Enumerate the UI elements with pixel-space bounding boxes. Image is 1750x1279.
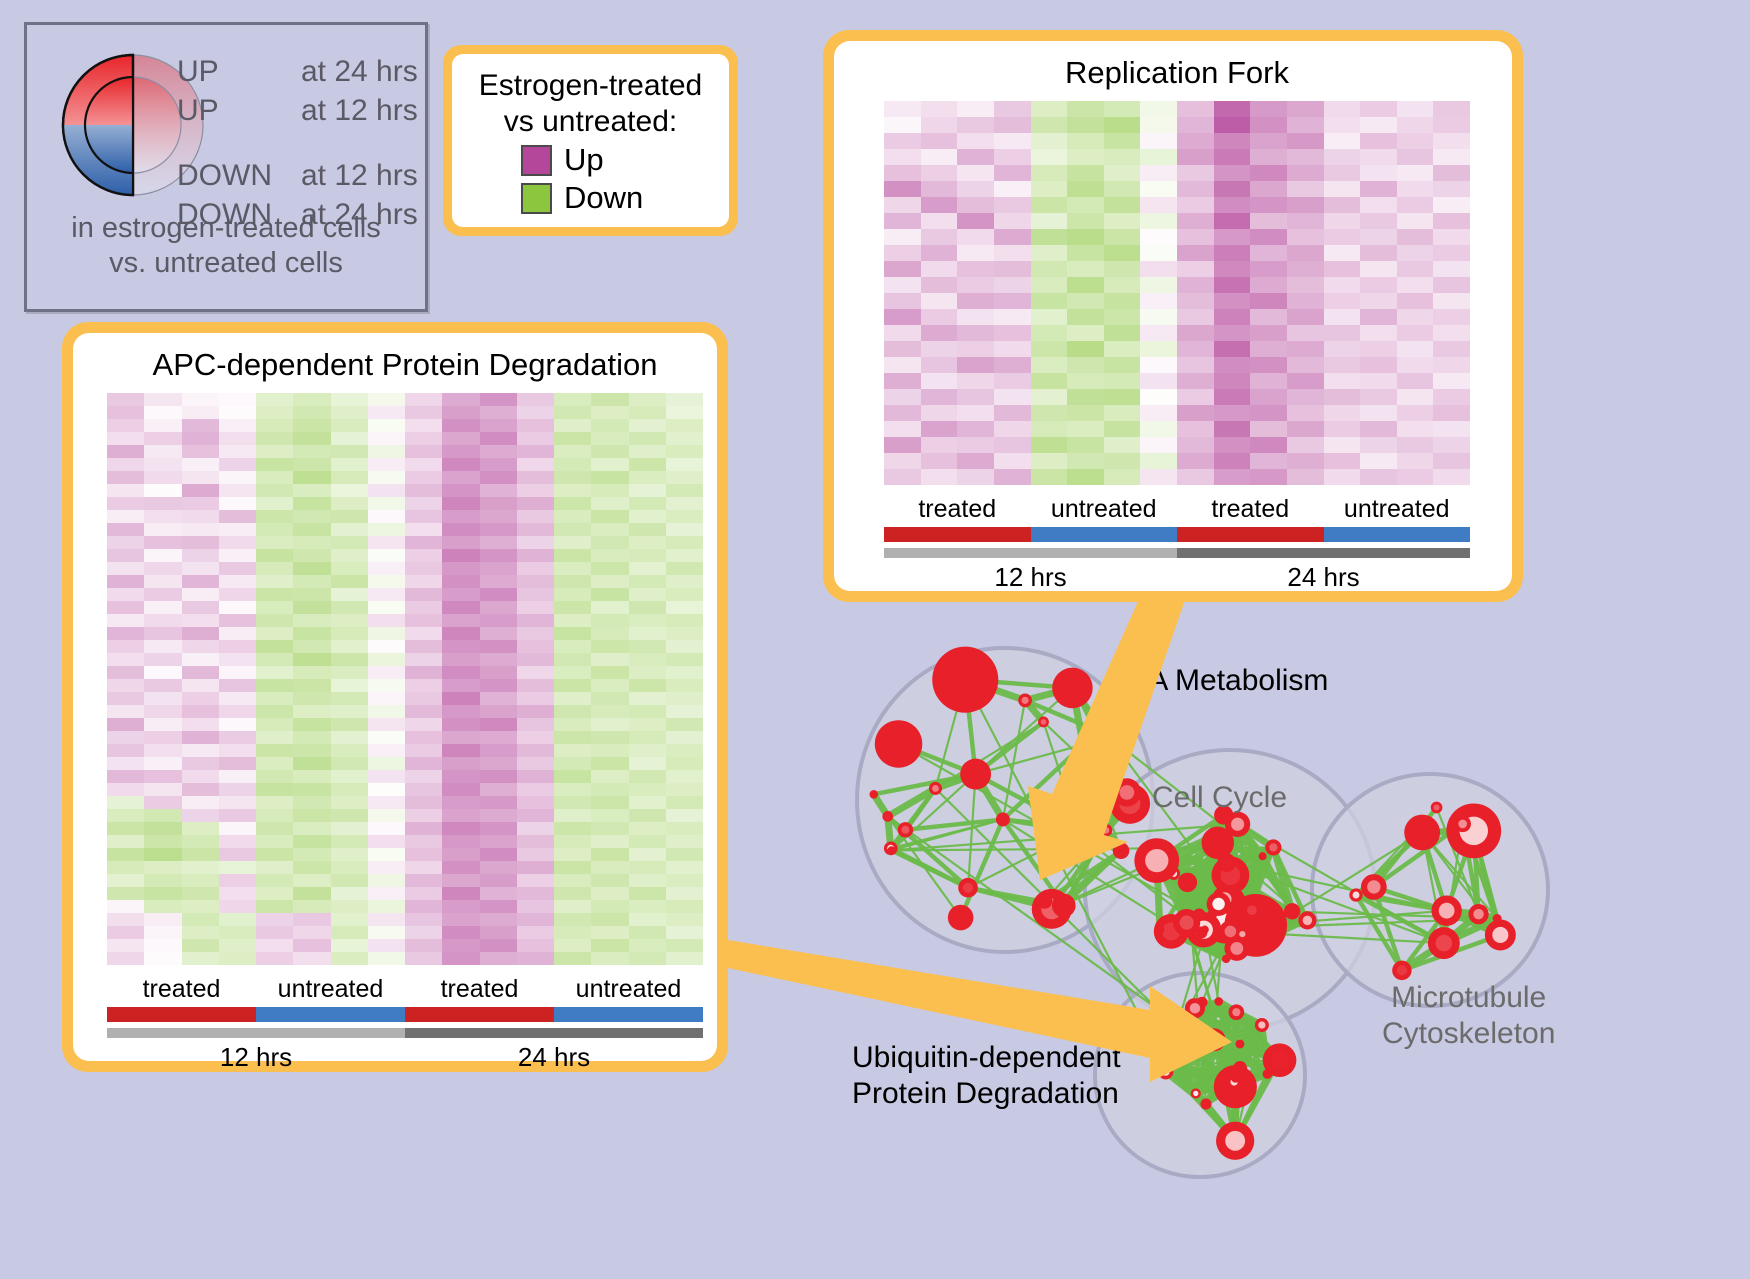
column-label: treated <box>107 975 256 1004</box>
heatmap-cell <box>1250 149 1287 165</box>
heatmap-cell <box>1287 357 1324 373</box>
heatmap-cell <box>994 197 1031 213</box>
heatmap-cell <box>591 796 628 809</box>
heatmap-cell <box>884 277 921 293</box>
network-node-core <box>1353 892 1360 899</box>
color-key-row: DOWN at 12 hrs <box>177 159 418 198</box>
heatmap-cell <box>666 731 703 744</box>
heatmap-cell <box>1140 133 1177 149</box>
heatmap-cell <box>1177 149 1214 165</box>
heatmap-cell <box>1067 405 1104 421</box>
heatmap-cell <box>480 640 517 653</box>
heatmap-cell <box>182 523 219 536</box>
heatmap-cell <box>405 809 442 822</box>
network-node-core <box>1102 731 1108 737</box>
network-node[interactable] <box>1178 873 1197 892</box>
heatmap-cell <box>480 783 517 796</box>
network-node[interactable] <box>1037 894 1052 909</box>
heatmap-cell <box>994 341 1031 357</box>
heatmap-cell <box>1031 229 1068 245</box>
heatmap-cell <box>666 653 703 666</box>
heatmap-cell <box>554 627 591 640</box>
heatmap-cell <box>219 640 256 653</box>
heatmap-cell <box>293 510 330 523</box>
network-node-core <box>1208 1034 1220 1046</box>
heatmap-cell <box>591 861 628 874</box>
heatmap-cell <box>480 796 517 809</box>
heatmap-cell <box>957 277 994 293</box>
heatmap-cell <box>480 705 517 718</box>
network-node[interactable] <box>1222 955 1230 963</box>
heatmap-cell <box>219 614 256 627</box>
network-node[interactable] <box>875 720 923 768</box>
heatmap-cell <box>368 939 405 952</box>
heatmap-cell <box>331 393 368 406</box>
network-node[interactable] <box>1233 1061 1247 1075</box>
key-direction: DOWN <box>177 159 301 193</box>
heatmap-cell <box>994 213 1031 229</box>
heatmap-cell <box>107 562 144 575</box>
network-node-core <box>1397 965 1407 975</box>
heatmap-cell <box>1287 229 1324 245</box>
heatmap-cell <box>219 848 256 861</box>
heatmap-cell <box>219 562 256 575</box>
heatmap-cell <box>957 213 994 229</box>
heatmap-cell <box>219 419 256 432</box>
network-node[interactable] <box>1404 815 1440 851</box>
heatmap-cell <box>994 229 1031 245</box>
heatmap-cell <box>1031 405 1068 421</box>
network-node[interactable] <box>1113 842 1130 859</box>
heatmap-cell <box>480 848 517 861</box>
heatmap-cell <box>1360 245 1397 261</box>
heatmap-axis-replication: treated untreated treated untreated 12 h <box>884 495 1470 593</box>
heatmap-cell <box>182 874 219 887</box>
heatmap-cell <box>331 575 368 588</box>
heatmap-cell <box>405 497 442 510</box>
heatmap-cell <box>1214 469 1251 485</box>
heatmap-cell <box>1067 293 1104 309</box>
network-node[interactable] <box>1052 894 1076 918</box>
network-node-core <box>1367 880 1380 893</box>
network-node[interactable] <box>1231 1074 1240 1083</box>
heatmap-cell <box>219 913 256 926</box>
heatmap-cell <box>480 601 517 614</box>
heatmap-cell <box>107 770 144 783</box>
heatmap-cell <box>144 445 181 458</box>
heatmap-cell <box>1177 469 1214 485</box>
heatmap-cell <box>957 197 994 213</box>
heatmap-cell <box>666 744 703 757</box>
heatmap-cell <box>182 848 219 861</box>
heatmap-cell <box>1177 405 1214 421</box>
heatmap-cell <box>368 458 405 471</box>
heatmap-cell <box>666 757 703 770</box>
heatmap-cell <box>517 718 554 731</box>
heatmap-cell <box>591 874 628 887</box>
heatmap-cell <box>1433 469 1470 485</box>
heatmap-cell <box>293 692 330 705</box>
heatmap-cell <box>554 471 591 484</box>
heatmap-cell <box>884 117 921 133</box>
heatmap-cell <box>144 757 181 770</box>
heatmap-cell <box>554 848 591 861</box>
heatmap-cell <box>1067 197 1104 213</box>
network-node[interactable] <box>1151 1019 1165 1033</box>
heatmap-cell <box>517 523 554 536</box>
heatmap-cell <box>256 536 293 549</box>
heatmap-cell <box>994 405 1031 421</box>
heatmap-cell <box>1397 341 1434 357</box>
network-node[interactable] <box>1075 737 1091 753</box>
heatmap-cell <box>517 562 554 575</box>
heatmap-cell <box>368 900 405 913</box>
heatmap-cell <box>405 731 442 744</box>
column-label: treated <box>1177 495 1324 524</box>
heatmap-cell <box>405 705 442 718</box>
heatmap-cell <box>442 666 479 679</box>
heatmap-cell <box>405 432 442 445</box>
heatmap-cell <box>1177 261 1214 277</box>
heatmap-cell <box>405 601 442 614</box>
network-node-core <box>1222 858 1232 868</box>
heatmap-cell <box>1214 165 1251 181</box>
heatmap-cell <box>666 783 703 796</box>
heatmap-cell <box>331 471 368 484</box>
heatmap-cell <box>331 744 368 757</box>
heatmap-cell <box>107 848 144 861</box>
heatmap-cell <box>256 497 293 510</box>
heatmap-cell <box>1177 421 1214 437</box>
time-label: 24 hrs <box>1177 562 1470 593</box>
heatmap-cell <box>1397 277 1434 293</box>
network-node[interactable] <box>1284 903 1300 919</box>
network-node-core <box>1180 916 1194 930</box>
heatmap-cell <box>1324 229 1361 245</box>
heatmap-cell <box>331 679 368 692</box>
heatmap-cell <box>293 887 330 900</box>
network-node[interactable] <box>948 905 974 931</box>
network-node-core <box>1258 1021 1265 1028</box>
heatmap-cell <box>1250 325 1287 341</box>
heatmap-cell <box>293 913 330 926</box>
network-node[interactable] <box>1156 925 1165 934</box>
heatmap-cell <box>144 562 181 575</box>
heatmap-cell <box>1104 341 1141 357</box>
heatmap-cell <box>368 406 405 419</box>
heatmap-cell <box>442 536 479 549</box>
heatmap-cell <box>107 471 144 484</box>
heatmap-cell <box>107 627 144 640</box>
heatmap-cell <box>293 809 330 822</box>
heatmap-cell <box>666 939 703 952</box>
heatmap-cell <box>480 926 517 939</box>
heatmap-cell <box>480 575 517 588</box>
network-node[interactable] <box>1201 926 1209 934</box>
heatmap-cell <box>293 575 330 588</box>
heatmap-cell <box>1250 181 1287 197</box>
heatmap-cell <box>182 718 219 731</box>
heatmap-cell <box>517 601 554 614</box>
heatmap-cell <box>1360 357 1397 373</box>
heatmap-cell <box>629 731 666 744</box>
network-node[interactable] <box>1235 1039 1244 1048</box>
heatmap-cell <box>1067 101 1104 117</box>
heatmap-cell <box>1104 373 1141 389</box>
color-key-row: UP at 24 hrs <box>177 55 418 94</box>
heatmap-cell <box>994 357 1031 373</box>
heatmap-cell <box>1397 181 1434 197</box>
heatmap-cell <box>1177 309 1214 325</box>
heatmap-cell <box>517 666 554 679</box>
heatmap-cell <box>994 293 1031 309</box>
heatmap-cell <box>591 497 628 510</box>
heatmap-cell <box>921 117 958 133</box>
heatmap-cell <box>629 471 666 484</box>
heatmap-apc-degradation <box>107 393 703 965</box>
heatmap-cell <box>1324 405 1361 421</box>
heatmap-cell <box>331 445 368 458</box>
network-node[interactable] <box>1200 1098 1211 1109</box>
heatmap-cell <box>368 471 405 484</box>
network-node[interactable] <box>1193 909 1202 918</box>
heatmap-cell <box>1397 453 1434 469</box>
heatmap-cell <box>368 627 405 640</box>
heatmap-cell <box>480 913 517 926</box>
heatmap-cell <box>182 458 219 471</box>
heatmap-cell <box>994 309 1031 325</box>
heatmap-cell <box>629 809 666 822</box>
cluster-label-dna-metabolism: DNA Metabolism <box>1105 663 1328 699</box>
network-node[interactable] <box>1152 1047 1172 1067</box>
heatmap-cell <box>256 731 293 744</box>
heatmap-cell <box>666 432 703 445</box>
heatmap-cell <box>1104 437 1141 453</box>
heatmap-cell <box>666 575 703 588</box>
treatment-color-bar <box>107 1007 703 1022</box>
heatmap-cell <box>182 484 219 497</box>
heatmap-cell <box>480 432 517 445</box>
heatmap-cell <box>405 614 442 627</box>
heatmap-cell <box>256 393 293 406</box>
network-node[interactable] <box>887 846 895 854</box>
heatmap-cell <box>517 705 554 718</box>
time-segment-12hrs <box>107 1028 405 1038</box>
heatmap-cell <box>629 952 666 965</box>
heatmap-cell <box>293 536 330 549</box>
heatmap-cell <box>1433 149 1470 165</box>
heatmap-cell <box>1360 149 1397 165</box>
heatmap-cell <box>405 692 442 705</box>
heatmap-cell <box>994 325 1031 341</box>
heatmap-cell <box>1360 373 1397 389</box>
heatmap-cell <box>256 458 293 471</box>
heatmap-cell <box>921 149 958 165</box>
heatmap-cell <box>1031 133 1068 149</box>
heatmap-cell <box>591 913 628 926</box>
heatmap-cell <box>107 796 144 809</box>
heatmap-cell <box>107 419 144 432</box>
heatmap-cell <box>182 887 219 900</box>
heatmap-cell <box>144 549 181 562</box>
heatmap-cell <box>219 718 256 731</box>
heatmap-cell <box>994 117 1031 133</box>
heatmap-cell <box>405 913 442 926</box>
heatmap-cell <box>1067 373 1104 389</box>
heatmap-cell <box>293 406 330 419</box>
network-node-core <box>932 785 939 792</box>
heatmap-cell <box>517 653 554 666</box>
heatmap-cell <box>884 197 921 213</box>
heatmap-cell <box>1360 277 1397 293</box>
heatmap-cell <box>1177 357 1214 373</box>
heatmap-cell <box>666 549 703 562</box>
network-node[interactable] <box>1263 1069 1273 1079</box>
heatmap-cell <box>1031 181 1068 197</box>
heatmap-cell <box>591 848 628 861</box>
column-label: treated <box>884 495 1031 524</box>
heatmap-cell <box>256 640 293 653</box>
heatmap-cell <box>1250 229 1287 245</box>
heatmap-cell <box>1360 469 1397 485</box>
heatmap-cell <box>1177 197 1214 213</box>
heatmap-cell <box>921 357 958 373</box>
heatmap-cell <box>182 809 219 822</box>
cluster-label-microtubule-cytoskeleton: Microtubule Cytoskeleton <box>1382 980 1555 1052</box>
heatmap-cell <box>107 406 144 419</box>
heatmap-cell <box>629 523 666 536</box>
heatmap-cell <box>591 679 628 692</box>
heatmap-cell <box>1067 357 1104 373</box>
heatmap-cell <box>994 453 1031 469</box>
legend-item-down-label: Down <box>564 180 660 216</box>
network-node-core <box>1231 818 1244 831</box>
heatmap-cell <box>591 887 628 900</box>
heatmap-cell <box>666 861 703 874</box>
heatmap-cell <box>1214 405 1251 421</box>
heatmap-cell <box>554 952 591 965</box>
heatmap-cell <box>1360 229 1397 245</box>
panel-apc-degradation: APC-dependent Protein Degradation treate… <box>62 322 728 1072</box>
heatmap-cell <box>554 406 591 419</box>
heatmap-cell <box>219 523 256 536</box>
heatmap-cell <box>144 601 181 614</box>
heatmap-cell <box>1360 101 1397 117</box>
heatmap-cell <box>480 731 517 744</box>
network-node[interactable] <box>1214 997 1223 1006</box>
network-node[interactable] <box>960 759 991 790</box>
heatmap-cell <box>331 536 368 549</box>
network-node[interactable] <box>1259 852 1267 860</box>
heatmap-cell <box>256 627 293 640</box>
heatmap-cell <box>442 627 479 640</box>
heatmap-cell <box>957 181 994 197</box>
heatmap-cell <box>554 536 591 549</box>
heatmap-cell <box>1324 357 1361 373</box>
heatmap-cell <box>182 653 219 666</box>
heatmap-cell <box>629 575 666 588</box>
heatmap-cell <box>107 900 144 913</box>
heatmap-cell <box>107 718 144 731</box>
network-node[interactable] <box>996 813 1010 827</box>
heatmap-cell <box>1214 437 1251 453</box>
heatmap-cell <box>480 627 517 640</box>
heatmap-cell <box>1177 133 1214 149</box>
network-node[interactable] <box>1052 668 1093 709</box>
heatmap-cell <box>480 614 517 627</box>
heatmap-cell <box>629 614 666 627</box>
heatmap-cell <box>256 679 293 692</box>
page-title: APC-dependent Protein Degradation <box>107 347 703 383</box>
network-node-core <box>1193 1091 1198 1096</box>
heatmap-cell <box>1397 117 1434 133</box>
network-node[interactable] <box>932 647 998 713</box>
heatmap-cell <box>1140 453 1177 469</box>
heatmap-cell <box>293 861 330 874</box>
heatmap-cell <box>405 666 442 679</box>
heatmap-cell <box>442 510 479 523</box>
heatmap-cell <box>219 796 256 809</box>
heatmap-cell <box>1067 117 1104 133</box>
heatmap-cell <box>1324 101 1361 117</box>
network-node[interactable] <box>1074 826 1085 837</box>
heatmap-cell <box>480 952 517 965</box>
heatmap-cell <box>405 861 442 874</box>
heatmap-cell <box>1214 373 1251 389</box>
heatmap-cell <box>256 549 293 562</box>
heatmap-cell <box>182 549 219 562</box>
heatmap-cell <box>884 213 921 229</box>
heatmap-cell <box>480 497 517 510</box>
network-node[interactable] <box>869 790 878 799</box>
heatmap-cell <box>1433 405 1470 421</box>
heatmap-cell <box>591 939 628 952</box>
heatmap-cell <box>629 718 666 731</box>
heatmap-cell <box>256 601 293 614</box>
heatmap-cell <box>144 796 181 809</box>
heatmap-cell <box>994 277 1031 293</box>
time-segment-24hrs <box>1177 548 1470 558</box>
heatmap-cell <box>144 419 181 432</box>
network-node[interactable] <box>1493 914 1502 923</box>
heatmap-cell <box>921 325 958 341</box>
heatmap-cell <box>293 926 330 939</box>
heatmap-cell <box>107 822 144 835</box>
heatmap-cell <box>442 601 479 614</box>
cluster-label-cell-cycle: Cell Cycle <box>1152 780 1287 816</box>
heatmap-cell <box>517 900 554 913</box>
heatmap-cell <box>442 445 479 458</box>
key-time: at 12 hrs <box>301 159 418 193</box>
heatmap-cell <box>293 627 330 640</box>
heatmap-cell <box>405 510 442 523</box>
heatmap-cell <box>1360 133 1397 149</box>
heatmap-cell <box>1287 373 1324 389</box>
heatmap-cell <box>666 640 703 653</box>
heatmap-cell <box>884 149 921 165</box>
heatmap-cell <box>331 510 368 523</box>
heatmap-cell <box>1104 245 1141 261</box>
heatmap-cell <box>368 822 405 835</box>
heatmap-cell <box>1397 133 1434 149</box>
heatmap-cell <box>1433 437 1470 453</box>
heatmap-cell <box>219 952 256 965</box>
heatmap-cell <box>517 614 554 627</box>
heatmap-cell <box>994 149 1031 165</box>
heatmap-cell <box>554 900 591 913</box>
heatmap-cell <box>921 389 958 405</box>
network-node[interactable] <box>1051 813 1059 821</box>
